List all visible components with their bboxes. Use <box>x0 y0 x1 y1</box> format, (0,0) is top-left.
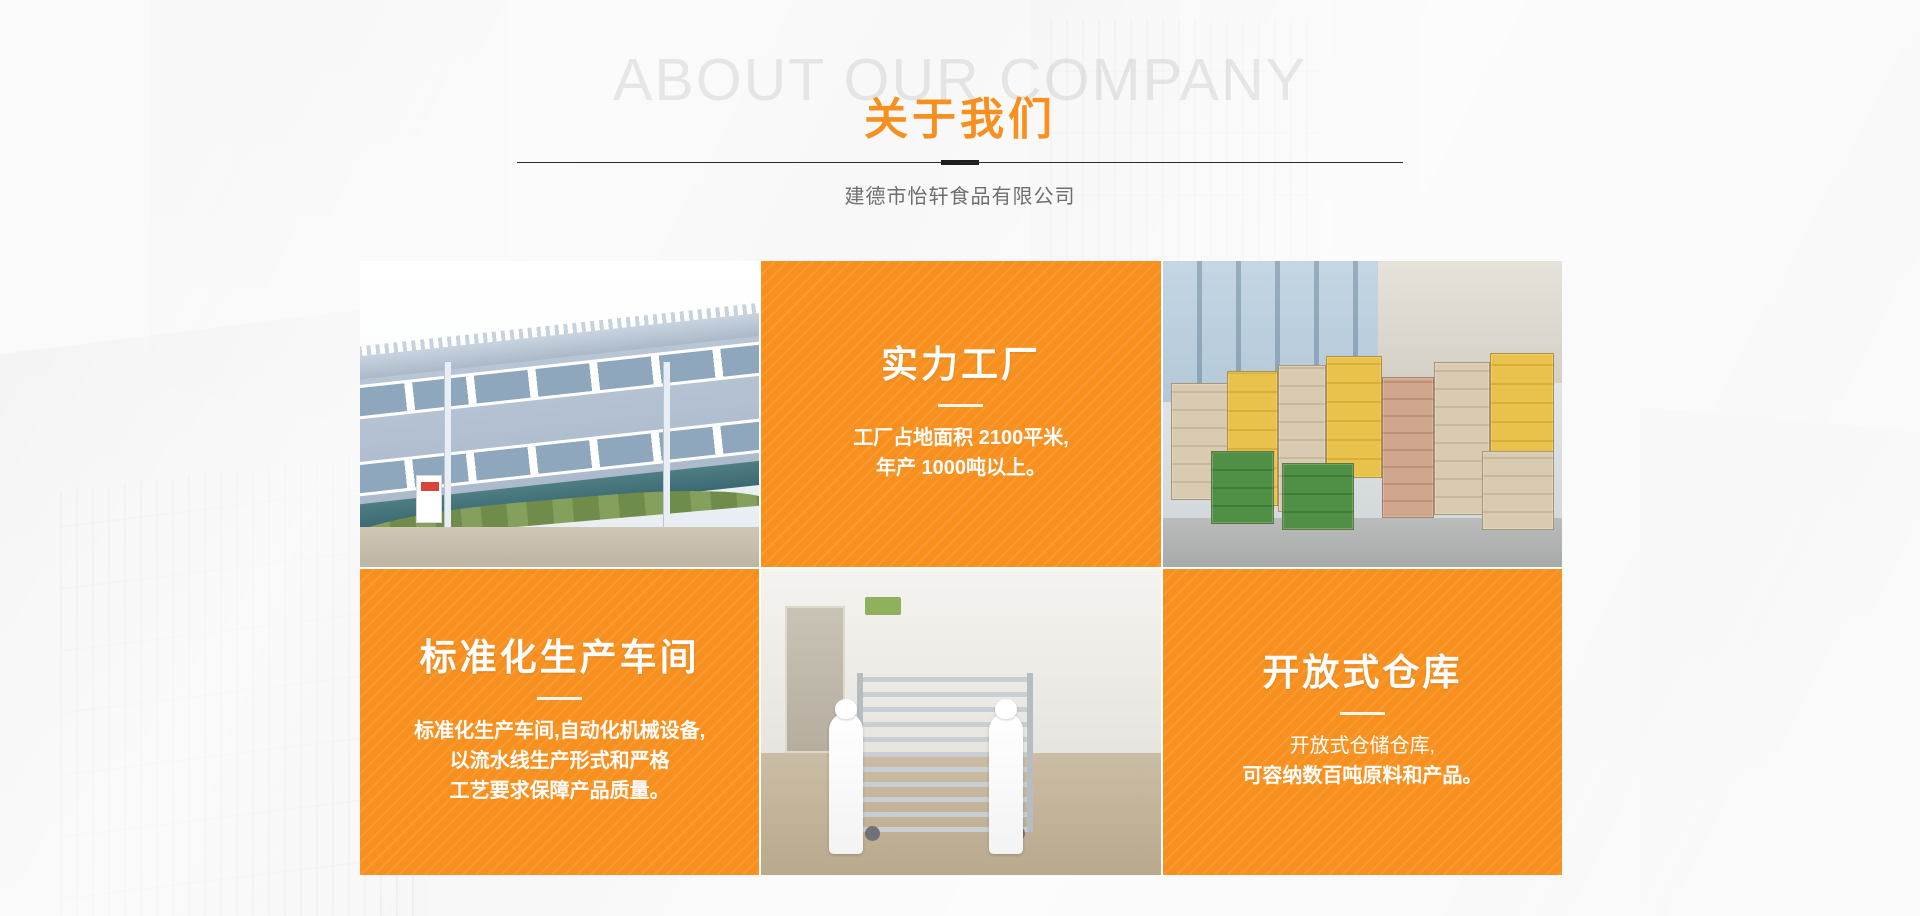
panel-title: 开放式仓库 <box>1262 652 1462 693</box>
photo-carton-stack <box>1211 451 1275 524</box>
production-workshop-photo <box>761 569 1160 875</box>
photo-carton-stack <box>1490 353 1554 460</box>
photo-worker <box>829 713 863 854</box>
page-title: 关于我们 <box>0 83 1920 147</box>
panel-body-line: 开放式仓储仓库, <box>1242 731 1482 761</box>
photo-downpipe <box>663 362 670 527</box>
factory-exterior-illustration <box>360 261 759 567</box>
photo-carton-stack <box>1382 377 1434 518</box>
warehouse-illustration <box>1163 261 1562 567</box>
title-divider <box>0 160 1920 165</box>
panel-separator <box>1340 712 1385 715</box>
open-warehouse-panel: 开放式仓库 开放式仓储仓库, 可容纳数百吨原料和产品。 <box>1163 569 1562 875</box>
photo-carton-stack <box>1482 451 1554 531</box>
strength-factory-panel: 实力工厂 工厂占地面积 2100平米, 年产 1000吨以上。 <box>761 261 1160 567</box>
photo-worker <box>989 713 1023 854</box>
section-header: ABOUT OUR COMPANY 关于我们 建德市怡轩食品有限公司 <box>0 0 1920 250</box>
panel-body-line: 工艺要求保障产品质量。 <box>414 776 705 806</box>
divider-line-right <box>960 162 1403 163</box>
photo-ground <box>360 527 759 567</box>
panel-body-line: 以流水线生产形式和严格 <box>414 746 705 776</box>
panel-title: 标准化生产车间 <box>420 637 700 678</box>
divider-line-left <box>517 162 960 163</box>
photo-carton-stack <box>1326 356 1382 478</box>
photo-carton-stack <box>1282 463 1354 530</box>
feature-grid: 实力工厂 工厂占地面积 2100平米, 年产 1000吨以上。 标准化生产车间 <box>360 261 1562 875</box>
panel-body-line: 工厂占地面积 2100平米, <box>853 423 1069 453</box>
factory-exterior-photo <box>360 261 759 567</box>
panel-body: 开放式仓储仓库, 可容纳数百吨原料和产品。 <box>1242 731 1482 792</box>
panel-separator <box>537 697 582 700</box>
panel-body: 工厂占地面积 2100平米, 年产 1000吨以上。 <box>853 423 1069 484</box>
panel-body-line: 标准化生产车间,自动化机械设备, <box>414 716 705 746</box>
panel-body-line: 年产 1000吨以上。 <box>853 453 1069 483</box>
panel-body-line: 可容纳数百吨原料和产品。 <box>1242 761 1482 791</box>
panel-title: 实力工厂 <box>881 344 1041 385</box>
panel-separator <box>938 404 983 407</box>
panel-body: 标准化生产车间,自动化机械设备, 以流水线生产形式和严格 工艺要求保障产品质量。 <box>414 716 705 807</box>
photo-notice-board <box>416 475 442 523</box>
warehouse-boxes-photo <box>1163 261 1562 567</box>
workshop-illustration <box>761 569 1160 875</box>
photo-downpipe <box>444 362 451 527</box>
standard-workshop-panel: 标准化生产车间 标准化生产车间,自动化机械设备, 以流水线生产形式和严格 工艺要… <box>360 569 759 875</box>
photo-exit-sign <box>865 597 901 615</box>
company-name-subtitle: 建德市怡轩食品有限公司 <box>0 180 1920 209</box>
